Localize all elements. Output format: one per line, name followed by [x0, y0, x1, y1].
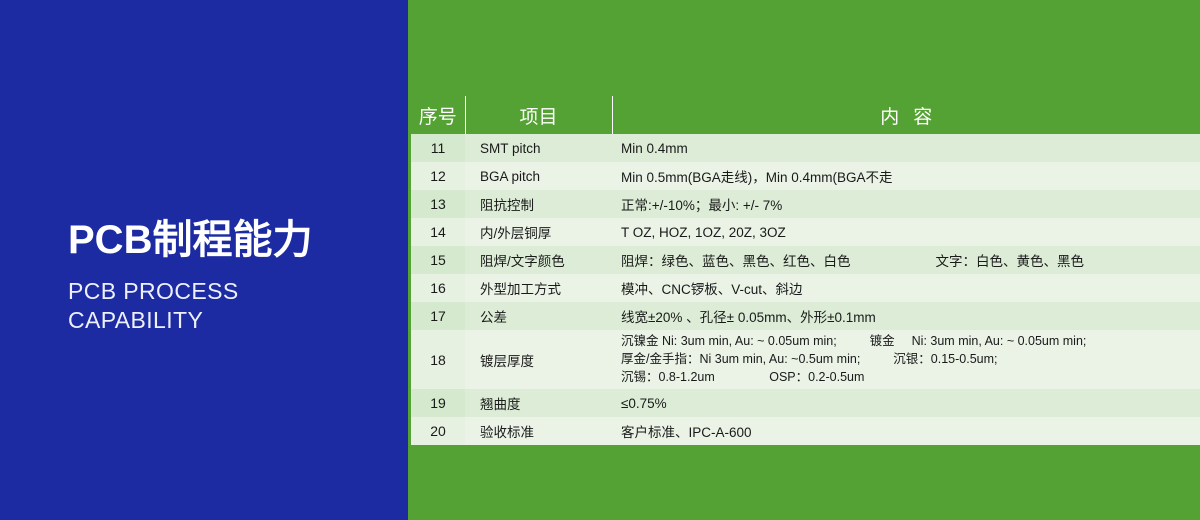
- row-item: 外型加工方式: [465, 274, 612, 302]
- pcb-capability-table: 序号 项目 内容 11 SMT pitch Min 0.4mm 12 BGA p…: [411, 96, 1200, 445]
- column-header-item: 项目: [465, 96, 612, 134]
- plating-gold-value: Ni: 3um min, Au: ~ 0.05um min;: [912, 334, 1087, 348]
- row-number: 12: [411, 162, 465, 190]
- row-item: BGA pitch: [465, 162, 612, 190]
- row-item: 阻焊/文字颜色: [465, 246, 612, 274]
- plating-tin-label: 沉锡：0.8-1.2um: [621, 370, 715, 384]
- plating-line-1: 沉镍金 Ni: 3um min, Au: ~ 0.05um min; 镀金 Ni…: [621, 333, 1200, 351]
- row-number: 19: [411, 389, 465, 417]
- plating-gold-label: 镀金: [870, 334, 895, 348]
- row-item: SMT pitch: [465, 134, 612, 162]
- row-item: 阻抗控制: [465, 190, 612, 218]
- table-row: 16 外型加工方式 模冲、CNC锣板、V-cut、斜边: [411, 274, 1200, 302]
- page-title-chinese: PCB制程能力: [68, 218, 398, 263]
- slide-root: PCB制程能力 PCB PROCESS CAPABILITY 序号 项目 内容 …: [0, 0, 1200, 520]
- row-content: 正常:+/-10%；最小: +/- 7%: [612, 190, 1200, 218]
- table-row: 18 镀层厚度 沉镍金 Ni: 3um min, Au: ~ 0.05um mi…: [411, 330, 1200, 389]
- title-block: PCB制程能力 PCB PROCESS CAPABILITY: [68, 218, 398, 336]
- row-item: 翘曲度: [465, 389, 612, 417]
- row-number: 17: [411, 302, 465, 330]
- column-header-content: 内容: [612, 96, 1200, 134]
- row-content: 线宽±20% 、孔径± 0.05mm、外形±0.1mm: [612, 302, 1200, 330]
- row-item: 内/外层铜厚: [465, 218, 612, 246]
- row-item: 镀层厚度: [465, 330, 612, 389]
- row-number: 15: [411, 246, 465, 274]
- table-row: 13 阻抗控制 正常:+/-10%；最小: +/- 7%: [411, 190, 1200, 218]
- plating-hardgold-label: 厚金/金手指：Ni 3um min, Au: ~0.5um min;: [621, 352, 860, 366]
- subtitle-line-2: CAPABILITY: [68, 306, 398, 335]
- row-content: T OZ, HOZ, 1OZ, 20Z, 3OZ: [612, 218, 1200, 246]
- table-row: 15 阻焊/文字颜色 阻焊：绿色、蓝色、黑色、红色、白色 文字：白色、黄色、黑色: [411, 246, 1200, 274]
- row-content: ≤0.75%: [612, 389, 1200, 417]
- row-content: 客户标准、IPC-A-600: [612, 417, 1200, 445]
- row-item: 验收标准: [465, 417, 612, 445]
- row-content: 阻焊：绿色、蓝色、黑色、红色、白色 文字：白色、黄色、黑色: [612, 246, 1200, 274]
- plating-osp-label: OSP：0.2-0.5um: [769, 370, 864, 384]
- row-number: 11: [411, 134, 465, 162]
- row-number: 14: [411, 218, 465, 246]
- row-content: 沉镍金 Ni: 3um min, Au: ~ 0.05um min; 镀金 Ni…: [612, 330, 1200, 389]
- row-content: 模冲、CNC锣板、V-cut、斜边: [612, 274, 1200, 302]
- column-header-no: 序号: [411, 96, 465, 134]
- table-row: 19 翘曲度 ≤0.75%: [411, 389, 1200, 417]
- subtitle-line-1: PCB PROCESS: [68, 277, 398, 306]
- table-header: 序号 项目 内容: [411, 96, 1200, 134]
- plating-enig-label: 沉镍金 Ni: 3um min, Au: ~ 0.05um min;: [621, 334, 837, 348]
- table-row: 11 SMT pitch Min 0.4mm: [411, 134, 1200, 162]
- plating-line-2: 厚金/金手指：Ni 3um min, Au: ~0.5um min; 沉银：0.…: [621, 351, 1200, 369]
- left-title-panel: PCB制程能力 PCB PROCESS CAPABILITY: [0, 0, 408, 520]
- table-row: 12 BGA pitch Min 0.5mm(BGA走线)，Min 0.4mm(…: [411, 162, 1200, 190]
- plating-line-3: 沉锡：0.8-1.2um OSP：0.2-0.5um: [621, 369, 1200, 387]
- row-number: 13: [411, 190, 465, 218]
- row-content-legend-color: 文字：白色、黄色、黑色: [936, 250, 1085, 270]
- row-content: Min 0.5mm(BGA走线)，Min 0.4mm(BGA不走: [612, 162, 1200, 190]
- table-header-row: 序号 项目 内容: [411, 96, 1200, 134]
- table-row: 17 公差 线宽±20% 、孔径± 0.05mm、外形±0.1mm: [411, 302, 1200, 330]
- row-content-solder-mask: 阻焊：绿色、蓝色、黑色、红色、白色: [621, 250, 851, 270]
- row-number: 16: [411, 274, 465, 302]
- table-row: 20 验收标准 客户标准、IPC-A-600: [411, 417, 1200, 445]
- table-body: 11 SMT pitch Min 0.4mm 12 BGA pitch Min …: [411, 134, 1200, 445]
- plating-silver-label: 沉银：0.15-0.5um;: [893, 352, 997, 366]
- row-content: Min 0.4mm: [612, 134, 1200, 162]
- row-item: 公差: [465, 302, 612, 330]
- table-row: 14 内/外层铜厚 T OZ, HOZ, 1OZ, 20Z, 3OZ: [411, 218, 1200, 246]
- row-number: 18: [411, 330, 465, 389]
- page-subtitle-english: PCB PROCESS CAPABILITY: [68, 277, 398, 336]
- row-number: 20: [411, 417, 465, 445]
